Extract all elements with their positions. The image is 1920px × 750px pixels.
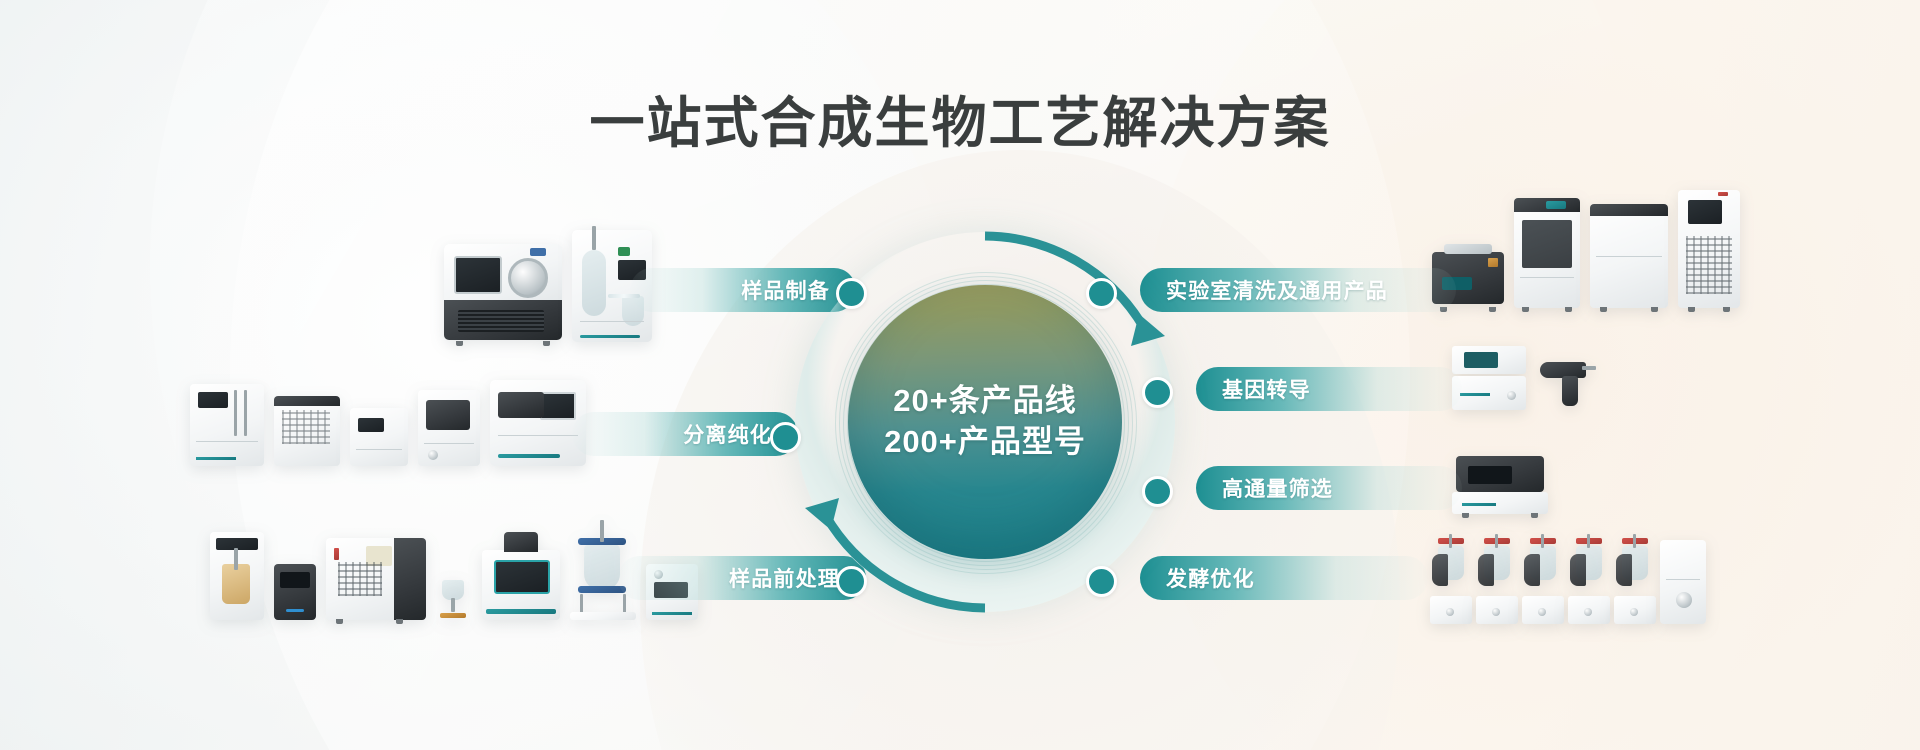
equipment-ultrasonic-homogenizer [210, 532, 264, 620]
equipment-bioreactor-vessel-4 [1568, 534, 1610, 624]
equipment-cluster-fermentation [1430, 530, 1706, 624]
hub-cycle-arrows [781, 218, 1189, 626]
equipment-hplc-system [490, 380, 586, 466]
page-title: 一站式合成生物工艺解决方案 [0, 78, 1920, 158]
equipment-freeze-dryer [444, 244, 562, 342]
equipment-small-purifier [350, 408, 408, 466]
equipment-bioreactor-controller [1660, 530, 1706, 624]
equipment-liquid-handler [274, 396, 340, 466]
equipment-high-pressure-homogenizer [326, 538, 426, 620]
connector-dot-separation-purification [770, 422, 801, 453]
connector-dot-lab-washing [1086, 278, 1117, 309]
equipment-cluster-sample-preparation [444, 222, 652, 342]
equipment-gene-gun [1536, 358, 1598, 410]
equipment-microplate-reader [1452, 448, 1548, 514]
equipment-chromatography-column-rack [190, 384, 264, 466]
equipment-cluster-lab-washing [1432, 190, 1740, 308]
equipment-electroporator [1452, 342, 1526, 410]
equipment-cluster-separation-purification [190, 380, 586, 466]
branch-label-separation-purification[interactable]: 分离纯化 [572, 412, 798, 456]
equipment-drying-oven-cabinet [1678, 190, 1740, 308]
equipment-bioreactor-vessel-2 [1476, 534, 1518, 624]
equipment-bioreactor-vessel-5 [1614, 534, 1656, 624]
arc-arrow-top-right-path [985, 236, 1144, 328]
equipment-benchtop-analyzer [482, 550, 560, 620]
branch-label-text: 分离纯化 [683, 419, 772, 449]
connector-dot-sample-preparation [836, 278, 867, 309]
branch-label-text: 基因转导 [1222, 374, 1311, 404]
connector-dot-gene-transduction [1142, 377, 1173, 408]
equipment-cluster-gene-transduction [1452, 342, 1598, 410]
connector-dot-high-throughput-screening [1142, 476, 1173, 507]
equipment-cluster-high-throughput-screening [1452, 448, 1548, 514]
equipment-homogenizer-head [436, 580, 472, 620]
branch-label-high-throughput-screening[interactable]: 高通量筛选 [1196, 466, 1462, 510]
equipment-bioreactor-vessel-1 [1430, 534, 1472, 624]
equipment-bead-mill [274, 564, 316, 620]
branch-label-text: 实验室清洗及通用产品 [1166, 275, 1388, 305]
infographic-poster: 一站式合成生物工艺解决方案 [0, 0, 1920, 750]
equipment-glassware-washer [1514, 198, 1580, 308]
connector-dot-sample-pretreatment [836, 566, 867, 597]
connector-dot-fermentation-optimization [1086, 566, 1117, 597]
branch-label-text: 高通量筛选 [1222, 473, 1333, 503]
equipment-lab-dishwasher [1590, 204, 1668, 308]
equipment-column-module [418, 390, 480, 466]
equipment-bioreactor-vessel-3 [1522, 534, 1564, 624]
branch-label-gene-transduction[interactable]: 基因转导 [1196, 367, 1462, 411]
